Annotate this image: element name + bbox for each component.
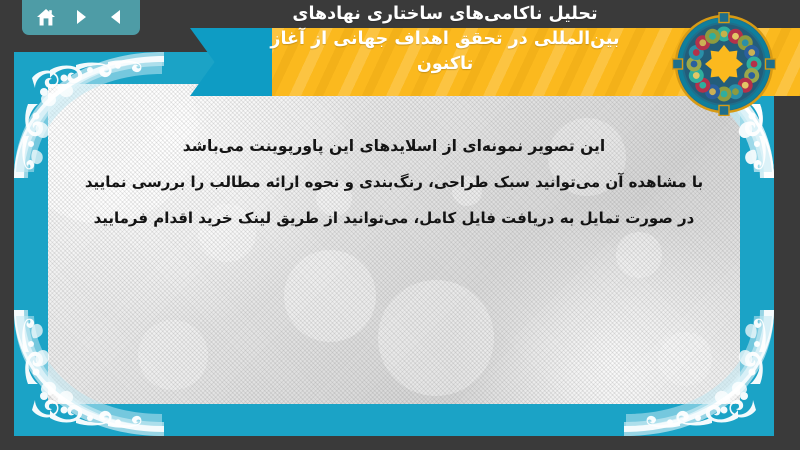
title-line-1: تحلیل ناکامی‌های ساختاری نهادهای	[210, 2, 680, 27]
triangle-left-icon	[107, 8, 125, 26]
persian-medallion-icon	[672, 12, 776, 116]
bokeh-circle	[658, 332, 712, 386]
triangle-right-icon	[72, 8, 90, 26]
body-line-3: در صورت تمایل به دریافت فایل کامل، می‌تو…	[48, 200, 740, 236]
back-button[interactable]	[103, 5, 129, 29]
slide-frame: این تصویر نمونه‌ای از اسلایدهای این پاور…	[14, 52, 774, 436]
title-line-2: بین‌المللی در تحقق اهداف جهانی از آغاز	[210, 27, 680, 52]
slide-viewer: این تصویر نمونه‌ای از اسلایدهای این پاور…	[0, 0, 800, 450]
forward-button[interactable]	[68, 5, 94, 29]
body-line-1: این تصویر نمونه‌ای از اسلایدهای این پاور…	[48, 128, 740, 164]
slide-body-text: این تصویر نمونه‌ای از اسلایدهای این پاور…	[48, 128, 740, 236]
bokeh-circle	[138, 320, 208, 390]
bokeh-circle	[284, 250, 376, 342]
home-button[interactable]	[33, 5, 59, 29]
bokeh-circle	[616, 232, 662, 278]
navigation-bar	[22, 0, 140, 35]
body-line-2: با مشاهده آن می‌توانید سبک طراحی، رنگ‌بن…	[48, 164, 740, 200]
bottom-band	[0, 436, 800, 450]
bokeh-circle	[378, 280, 494, 396]
home-icon	[36, 8, 56, 27]
title-line-3: تاکنون	[210, 52, 680, 77]
page-title: تحلیل ناکامی‌های ساختاری نهادهای بین‌الم…	[210, 2, 680, 77]
